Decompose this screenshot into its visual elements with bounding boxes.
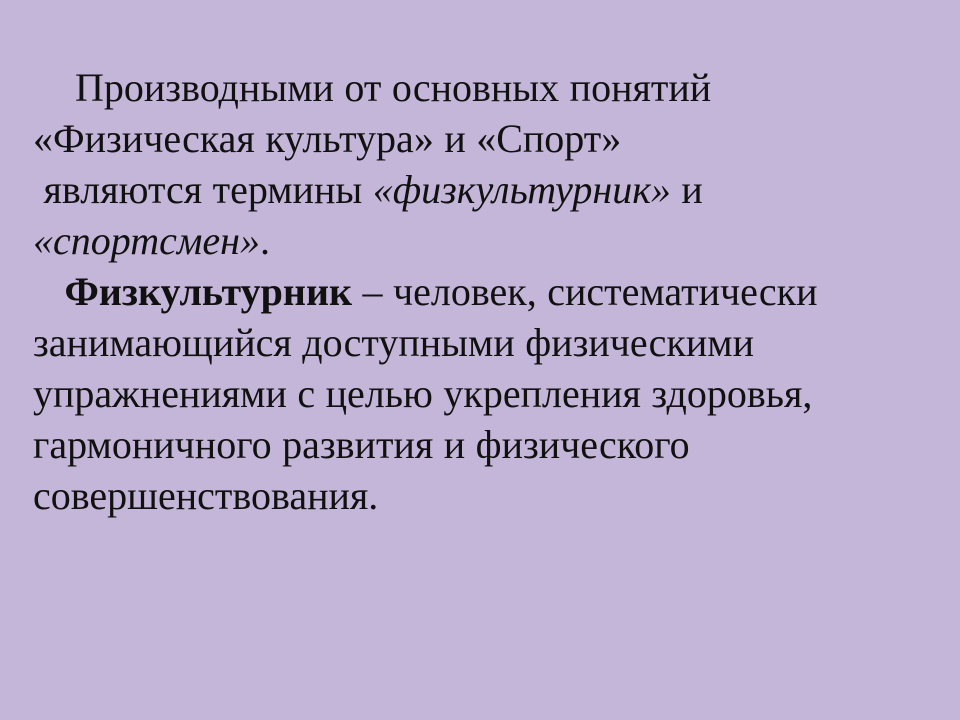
text-run-italic: «физкультурник»: [373, 167, 671, 212]
text-run-regular: гармоничного развития и физического: [33, 422, 690, 467]
text-run-regular: .: [260, 218, 270, 263]
paragraph-definition-fizkulturnik: Физкультурник – человек, систематическиз…: [33, 266, 923, 521]
text-run-regular: Производными от основных понятий: [33, 65, 711, 110]
text-run-italic: «спортсмен»: [33, 218, 260, 263]
text-run-regular: занимающийся доступными физическими: [33, 320, 754, 365]
text-run-regular: упражнениями с целью укрепления здоровья…: [33, 371, 812, 416]
paragraph-definition-intro: Производными от основных понятий«Физичес…: [33, 62, 923, 266]
text-line: гармоничного развития и физического: [33, 419, 923, 470]
text-line: являются термины «физкультурник» и: [33, 164, 923, 215]
text-line: Физкультурник – человек, систематически: [33, 266, 923, 317]
text-line: «Физическая культура» и «Спорт»: [33, 113, 923, 164]
text-line: занимающийся доступными физическими: [33, 317, 923, 368]
slide-body-text: Производными от основных понятий«Физичес…: [33, 62, 923, 521]
text-line: «спортсмен».: [33, 215, 923, 266]
text-run-bold: Физкультурник: [65, 269, 353, 314]
slide-canvas: Производными от основных понятий«Физичес…: [0, 0, 960, 720]
text-line: совершенствования.: [33, 470, 923, 521]
text-run-regular: [33, 269, 65, 314]
text-run-regular: – человек, систематически: [352, 269, 817, 314]
text-line: Производными от основных понятий: [33, 62, 923, 113]
text-run-regular: совершенствования.: [33, 473, 378, 518]
text-run-regular: «Физическая культура» и «Спорт»: [33, 116, 621, 161]
text-run-regular: являются термины: [33, 167, 373, 212]
text-run-regular: и: [671, 167, 703, 212]
text-line: упражнениями с целью укрепления здоровья…: [33, 368, 923, 419]
